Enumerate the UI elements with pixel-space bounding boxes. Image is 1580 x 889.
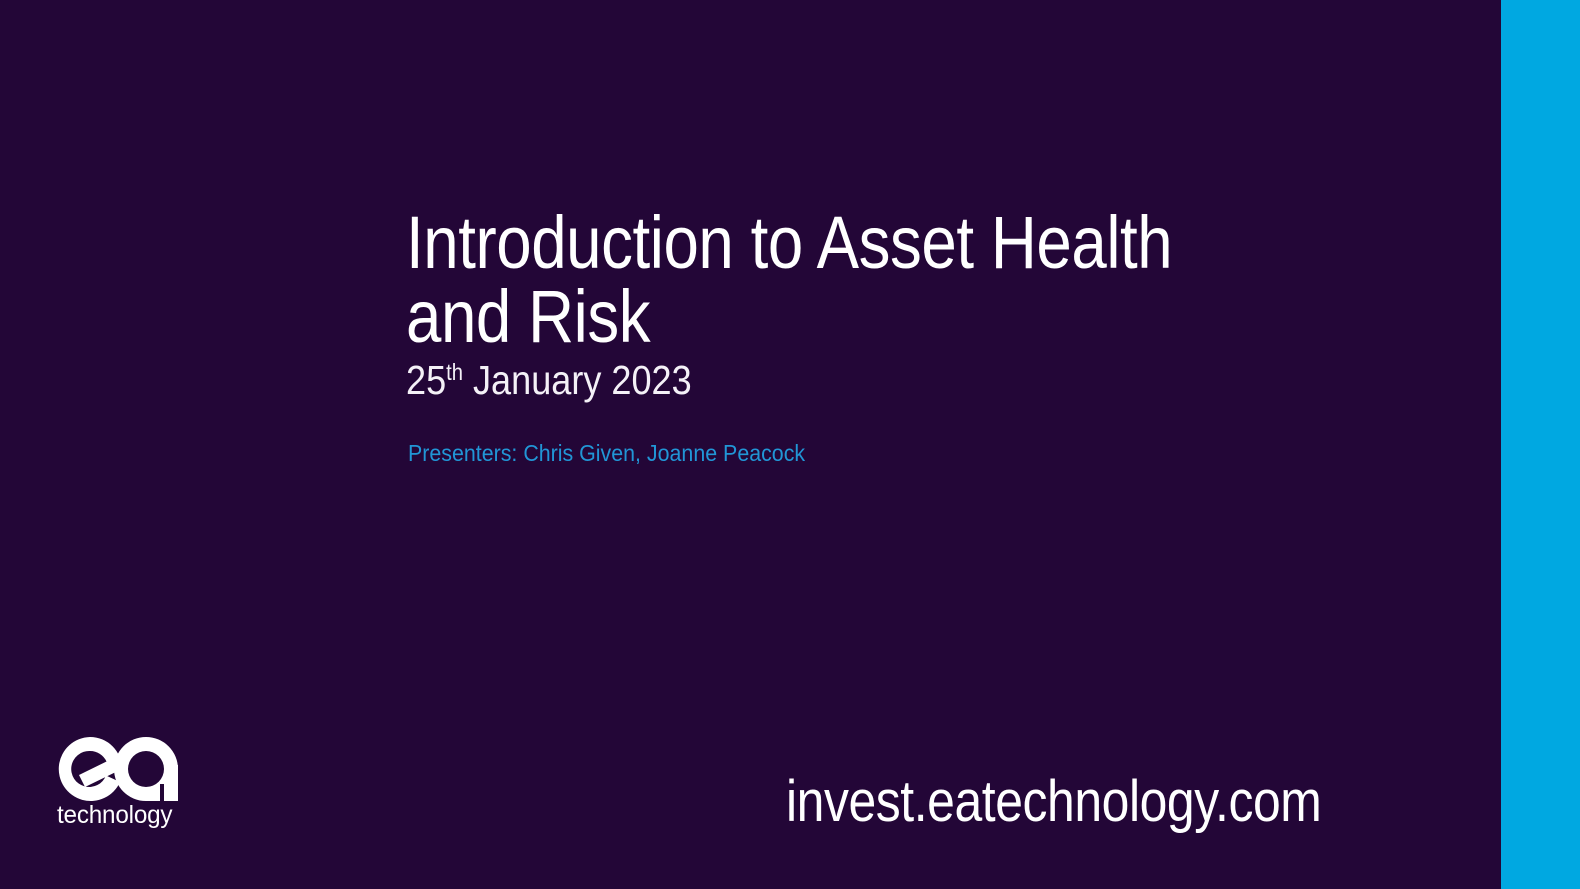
- date-day: 25: [406, 357, 446, 403]
- company-logo: technology: [57, 736, 182, 832]
- logo-wordmark: technology: [57, 803, 178, 828]
- accent-bar: [1501, 0, 1580, 889]
- date-ordinal-suffix: th: [446, 359, 463, 385]
- slide-title: Introduction to Asset Health and Risk: [406, 206, 1275, 354]
- date-month-year: January 2023: [463, 357, 692, 403]
- presenters-line: Presenters: Chris Given, Joanne Peacock: [408, 440, 805, 468]
- title-slide: Introduction to Asset Health and Risk 25…: [0, 0, 1580, 889]
- website-url: invest.eatechnology.com: [786, 772, 1321, 833]
- ea-monogram-icon: [57, 736, 179, 802]
- slide-date: 25th January 2023: [406, 360, 1295, 401]
- title-block: Introduction to Asset Health and Risk 25…: [406, 206, 1416, 401]
